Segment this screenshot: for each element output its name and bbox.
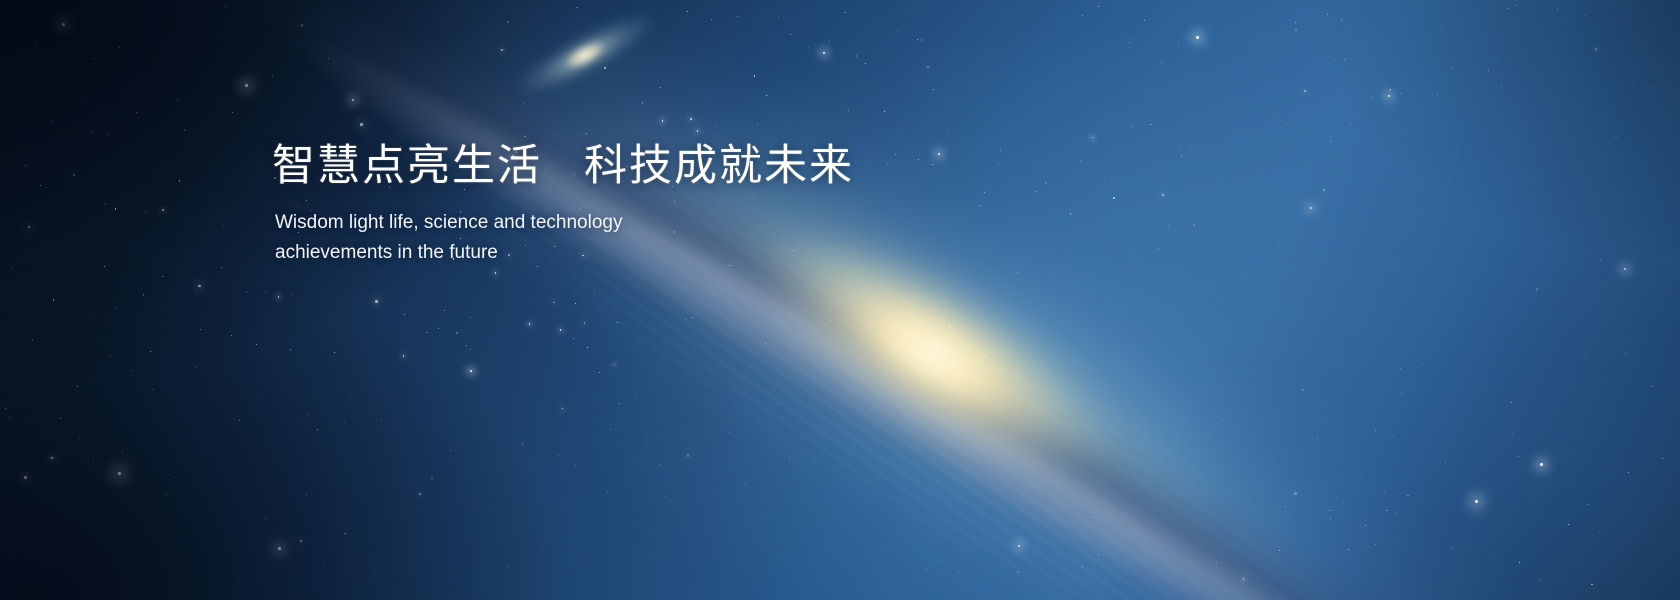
banner-subheadline: Wisdom light life, science and technolog… — [275, 208, 665, 268]
subheadline-line-1: Wisdom light life, science and technolog… — [275, 208, 665, 238]
subheadline-line-2: achievements in the future — [275, 238, 665, 268]
hero-banner: 智慧点亮生活科技成就未来 Wisdom light life, science … — [0, 0, 1680, 600]
banner-copy: 智慧点亮生活科技成就未来 Wisdom light life, science … — [272, 140, 912, 268]
banner-headline: 智慧点亮生活科技成就未来 — [272, 140, 912, 192]
headline-phrase-2: 科技成就未来 — [584, 141, 854, 191]
corner-vignette — [0, 0, 1680, 600]
headline-phrase-1: 智慧点亮生活 — [272, 141, 542, 191]
